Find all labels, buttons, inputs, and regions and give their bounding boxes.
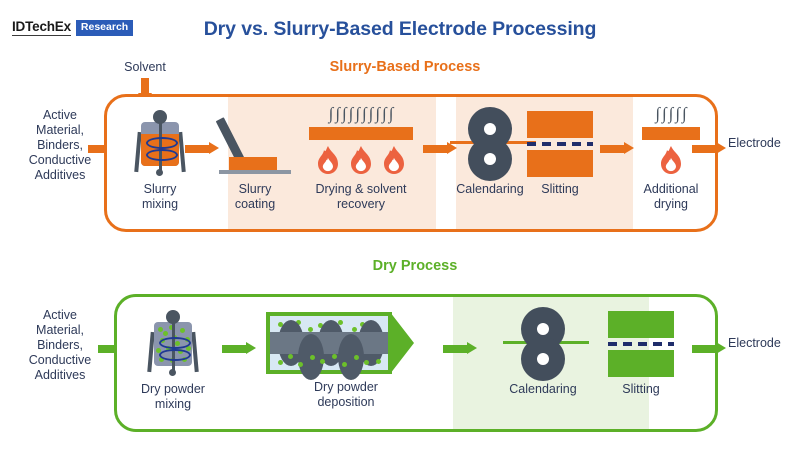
stage-slurry-calendaring-label: Calendaring: [456, 182, 523, 197]
screw-flight: [338, 334, 364, 380]
mixer-motor-knob: [166, 310, 180, 324]
flame-icon: [382, 146, 406, 176]
mixer-leg-right: [191, 332, 198, 372]
mixer-impeller-coil-top: [159, 337, 191, 349]
coating-substrate: [219, 170, 291, 174]
drying-heater-bar: [642, 127, 700, 140]
extruder-screw-shaft: [270, 332, 388, 354]
slurry-section-heading: Slurry-Based Process: [240, 59, 570, 75]
coating-slurry-slab: [229, 157, 277, 170]
steam-squiggles: ∫∫∫∫∫: [634, 105, 708, 122]
dry-output-label: Electrode: [728, 336, 800, 351]
stage-additional-drying-label: Additional drying: [644, 182, 699, 211]
steam-squiggles: ∫∫∫∫∫∫∫∫∫∫: [305, 105, 417, 122]
slurry-output-arrow: [692, 142, 726, 154]
slit-cut-line: [608, 342, 674, 346]
stage-slurry-coating: Slurry coating: [212, 108, 298, 211]
page-title: Dry vs. Slurry-Based Electrode Processin…: [0, 18, 800, 41]
coating-blade-icon: [212, 108, 298, 182]
flame-icon: [316, 146, 340, 176]
slitting-icon: [527, 106, 593, 182]
dry-output-arrow: [692, 342, 726, 354]
stage-drying-solvent-recovery: ∫∫∫∫∫∫∫∫∫∫ Drying & solvent recovery: [296, 104, 426, 211]
stage-dry-powder-mixing-label: Dry powder mixing: [141, 382, 205, 411]
calender-rollers-icon: [505, 306, 581, 382]
stage-additional-drying: ∫∫∫∫∫ Additional drying: [626, 104, 716, 211]
slit-sheet-top: [608, 311, 674, 338]
flame-icon: [659, 146, 683, 176]
dry-section-heading: Dry Process: [250, 258, 580, 274]
slit-sheet-bottom: [608, 350, 674, 377]
extruder-icon: [266, 306, 426, 380]
stage-dry-powder-deposition-label: Dry powder deposition: [314, 380, 378, 409]
drying-flame-group: [305, 146, 417, 176]
dry-arrow-deposition-to-calender: [443, 342, 477, 354]
calender-hub-bottom: [484, 153, 496, 165]
extruder-nozzle: [390, 312, 414, 374]
stage-slurry-slitting-label: Slitting: [541, 182, 579, 197]
mixer-foot: [169, 369, 176, 376]
stage-dry-calendaring-label: Calendaring: [509, 382, 576, 397]
stage-drying-label: Drying & solvent recovery: [315, 182, 406, 211]
mixer-impeller-coil-bottom: [146, 149, 178, 161]
drying-flames-icon: ∫∫∫∫∫∫∫∫∫∫: [296, 104, 426, 182]
stage-dry-slitting-label: Slitting: [622, 382, 660, 397]
mixer-impeller-coil-bottom: [159, 349, 191, 361]
stage-slurry-mixing-label: Slurry mixing: [142, 182, 178, 211]
stage-dry-slitting: Slitting: [608, 306, 674, 397]
stage-slurry-coating-label: Slurry coating: [235, 182, 275, 211]
slurry-output-label: Electrode: [728, 136, 800, 151]
mixer-impeller-coil-top: [146, 137, 178, 149]
calender-hub-top: [484, 123, 496, 135]
solvent-label: Solvent: [100, 60, 190, 74]
stage-slurry-slitting: Slitting: [527, 106, 593, 197]
calender-hub-top: [537, 323, 549, 335]
slit-sheet-top: [527, 111, 593, 138]
stage-slurry-mixing: Slurry mixing: [117, 104, 203, 211]
slit-cut-line: [527, 142, 593, 146]
stage-slurry-calendaring: Calendaring: [452, 106, 528, 197]
stage-dry-powder-mixing: Dry powder mixing: [127, 304, 219, 411]
dry-arrow-mix-to-deposition: [222, 342, 256, 354]
flame-icon: [349, 146, 373, 176]
slitting-icon: [608, 306, 674, 382]
mixer-foot: [156, 169, 163, 176]
mixer-dry-icon: [127, 304, 219, 382]
dry-input-label: Active Material, Binders, Conductive Add…: [14, 308, 106, 383]
stage-dry-powder-deposition: Dry powder deposition: [266, 306, 426, 409]
slit-sheet-bottom: [527, 150, 593, 177]
mixer-motor-knob: [153, 110, 167, 124]
calender-hub-bottom: [537, 353, 549, 365]
drying-heater-bar: [309, 127, 413, 140]
stage-dry-calendaring: Calendaring: [505, 306, 581, 397]
calender-rollers-icon: [452, 106, 528, 182]
